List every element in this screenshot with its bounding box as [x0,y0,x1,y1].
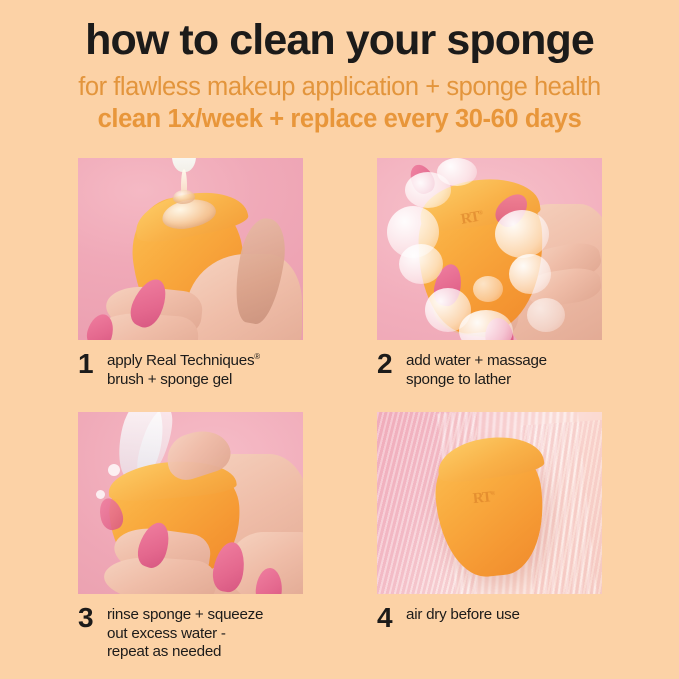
step-4-caption: 4 air dry before use [377,605,602,632]
step-1-photo [78,158,303,340]
step-3-number: 3 [78,605,107,632]
lather-foam [437,158,477,186]
rt-mark: RT [472,489,492,507]
step-1-line-2: brush + sponge gel [107,371,232,388]
step-cell-1: 1 apply Real Techniques® brush + sponge … [78,158,303,390]
step-cell-4: RT® 4 air dry before use [377,412,602,663]
header: how to clean your sponge for flawless ma… [0,0,679,134]
step-2-number: 2 [377,351,406,378]
step-1-number: 1 [78,351,107,378]
step-1-line-1: apply Real Techniques [107,352,254,369]
step-1-caption: 1 apply Real Techniques® brush + sponge … [78,351,303,390]
water-droplet [96,490,105,499]
sponge-rt-logo: RT® [472,489,495,508]
step-3-text: rinse sponge + squeeze out excess water … [107,605,263,663]
subtitle: for flawless makeup application + sponge… [0,72,679,102]
step-2-caption: 2 add water + massage sponge to lather [377,351,602,390]
step-cell-2: RT® [377,158,602,390]
step-1-text: apply Real Techniques® brush + sponge ge… [107,351,260,390]
step-2-text: add water + massage sponge to lather [406,351,547,390]
step-4-text: air dry before use [406,605,520,625]
water-droplet [108,464,120,476]
step-3-line-1: rinse sponge + squeeze [107,606,263,623]
step-4-number: 4 [377,605,406,632]
step-3-photo [78,412,303,594]
step-2-photo: RT® [377,158,602,340]
steps-grid: 1 apply Real Techniques® brush + sponge … [78,158,602,662]
step-4-line-1: air dry before use [406,606,520,623]
lather-foam [495,210,549,258]
step-2-line-1: add water + massage [406,352,547,369]
subtitle-emphasis: clean 1x/week + replace every 30-60 days [0,104,679,134]
step-4-photo: RT® [377,412,602,594]
steps-row-2: 3 rinse sponge + squeeze out excess wate… [78,412,602,663]
lather-foam [509,254,551,294]
trademark-symbol: ® [254,352,260,361]
step-3-line-3: repeat as needed [107,643,221,660]
infographic-root: how to clean your sponge for flawless ma… [0,0,679,679]
step-3-caption: 3 rinse sponge + squeeze out excess wate… [78,605,303,663]
steps-row-1: 1 apply Real Techniques® brush + sponge … [78,158,602,390]
lather-foam [527,298,565,332]
step-cell-3: 3 rinse sponge + squeeze out excess wate… [78,412,303,663]
lather-foam [473,276,503,302]
step-3-line-2: out excess water - [107,625,226,642]
step-2-line-2: sponge to lather [406,371,511,388]
rt-trademark: ® [478,210,482,217]
rt-trademark: ® [491,491,495,497]
page-title: how to clean your sponge [0,18,679,63]
lather-foam [399,244,443,284]
